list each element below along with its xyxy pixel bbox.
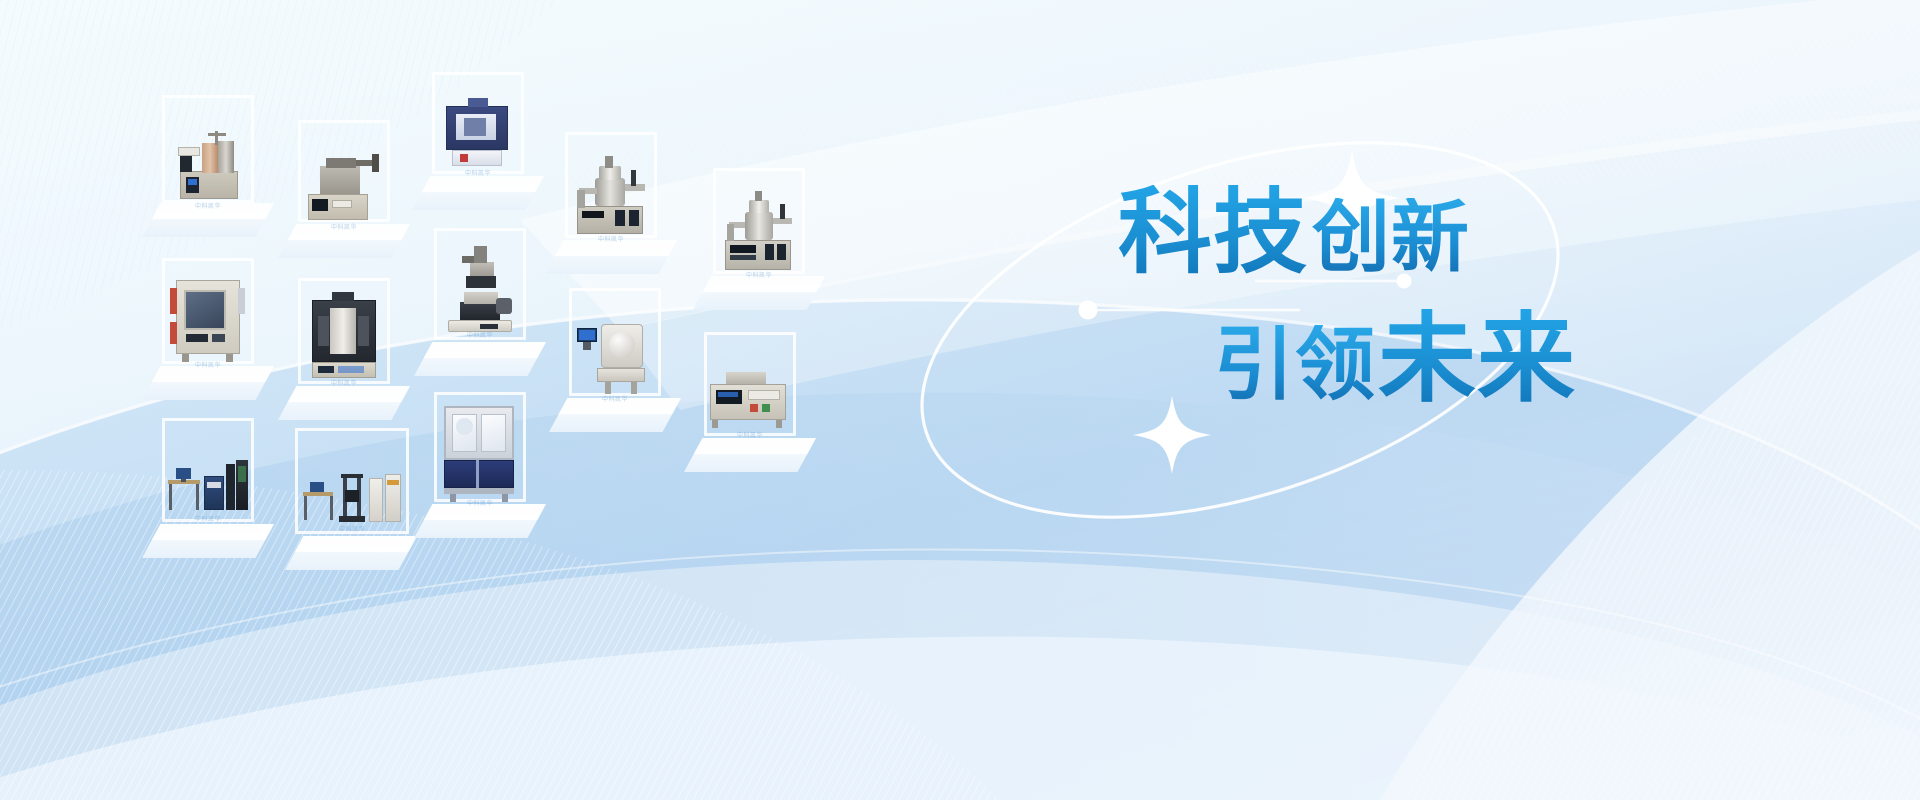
sparkle-star-small	[1133, 396, 1211, 474]
headline-block: 科技创新 引领未来	[1100, 185, 1860, 407]
headline-line2-light: 引领	[1214, 325, 1376, 405]
headline-line-1: 科技创新	[1118, 185, 1860, 279]
headline-line-2: 引领未来	[1210, 309, 1860, 407]
headline-line1-strong: 科技	[1118, 185, 1308, 279]
hero-banner: 中科凯华 中科凯华	[0, 0, 1920, 800]
headline-line2-strong: 未来	[1378, 309, 1576, 407]
headline-line1-light: 创新	[1312, 198, 1470, 276]
orbit-node-left	[1079, 301, 1098, 320]
